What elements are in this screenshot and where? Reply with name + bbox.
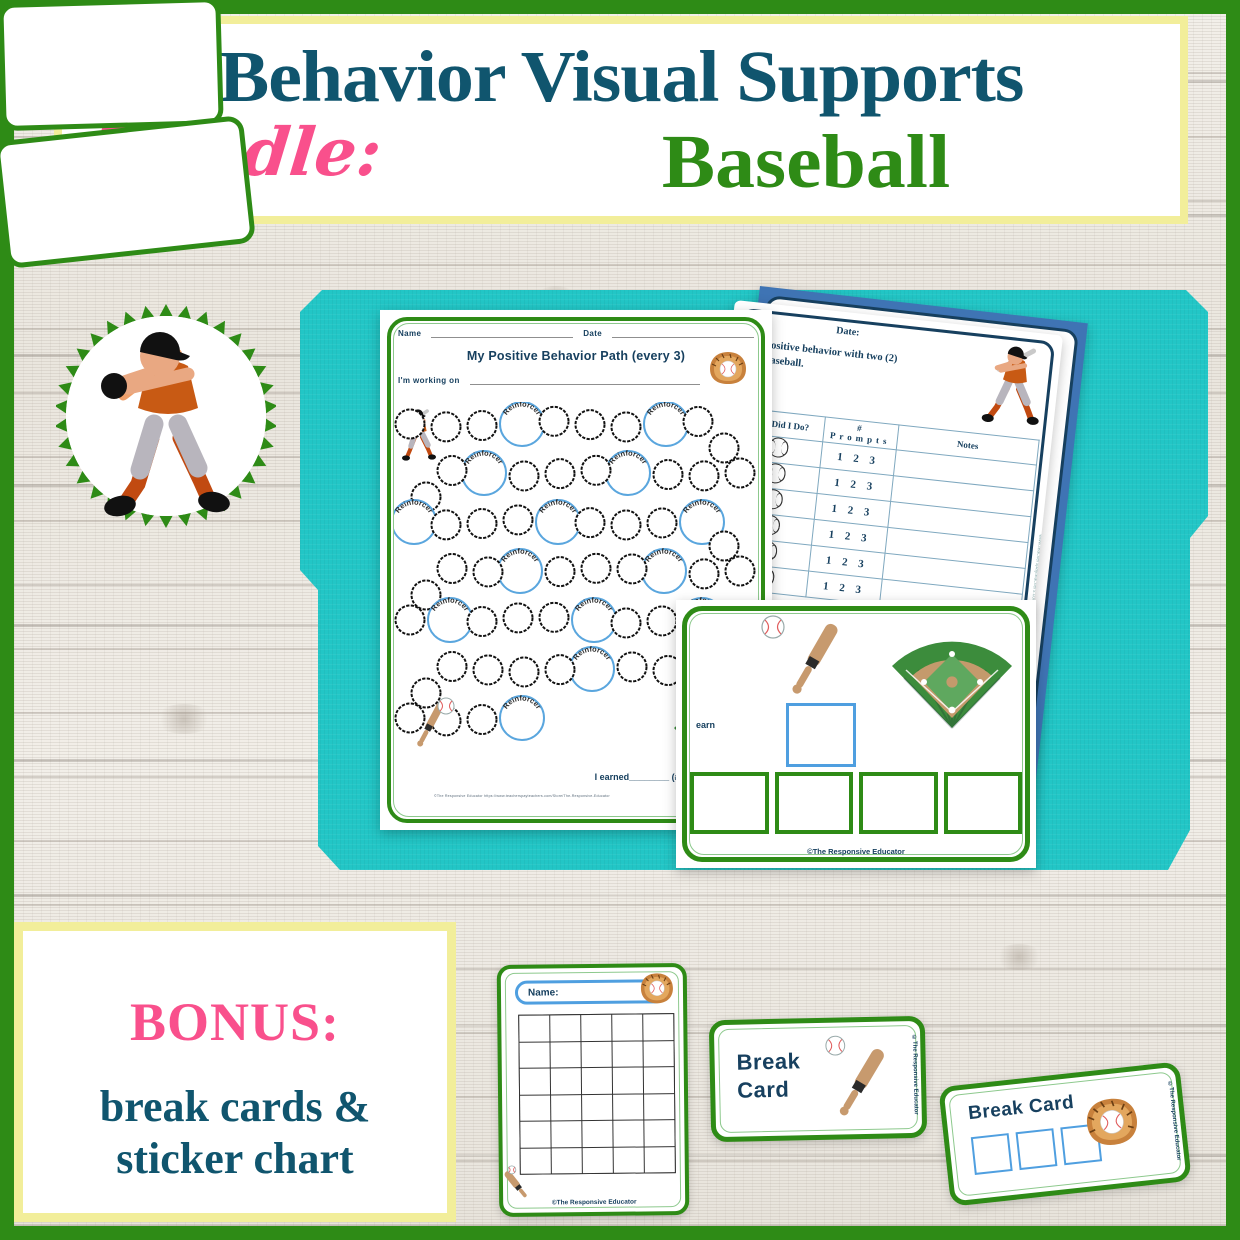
baseball-glove-icon bbox=[708, 350, 748, 386]
date-input-line[interactable] bbox=[612, 328, 754, 338]
sticker-cell[interactable] bbox=[613, 1094, 643, 1120]
sticker-cell[interactable] bbox=[644, 1120, 674, 1146]
sticker-cell[interactable] bbox=[550, 1042, 580, 1068]
break-card-label-line1: Break bbox=[736, 1047, 800, 1076]
sticker-cell[interactable] bbox=[614, 1147, 644, 1173]
sticker-cell[interactable] bbox=[519, 1015, 549, 1041]
sticker-cell[interactable] bbox=[613, 1120, 643, 1146]
break-card-stack-shadow bbox=[0, 0, 224, 131]
sticker-cell[interactable] bbox=[520, 1068, 550, 1094]
earn-label: earn bbox=[696, 720, 715, 730]
sticker-cell[interactable] bbox=[550, 1015, 580, 1041]
bonus-line-1: break cards & bbox=[23, 1081, 447, 1133]
token-slot-row[interactable] bbox=[690, 772, 1022, 834]
sticker-cell[interactable] bbox=[551, 1068, 581, 1094]
sticker-cell[interactable] bbox=[582, 1068, 612, 1094]
break-card-label-line2: Card bbox=[737, 1075, 801, 1104]
copyright-label: ©The Responsive Educator bbox=[911, 1035, 919, 1115]
copyright-line: ©The Responsive Educator https://www.tea… bbox=[434, 794, 610, 798]
baseball-batter-badge bbox=[56, 288, 276, 544]
sticker-cell[interactable] bbox=[643, 1041, 673, 1067]
sticker-cell[interactable] bbox=[582, 1094, 612, 1120]
sticker-cell[interactable] bbox=[520, 1121, 550, 1147]
working-on-input-line[interactable] bbox=[470, 375, 700, 385]
token-slot[interactable] bbox=[944, 772, 1023, 834]
baseball-field-icon bbox=[888, 620, 1016, 732]
sticker-cell[interactable] bbox=[583, 1147, 613, 1173]
baseball-bat-icon bbox=[772, 614, 858, 704]
sticker-cell[interactable] bbox=[552, 1148, 582, 1174]
sticker-chart[interactable]: Name: ©The Responsive Educator bbox=[497, 963, 690, 1217]
sticker-cell[interactable] bbox=[612, 1041, 642, 1067]
sticker-cell[interactable] bbox=[520, 1095, 550, 1121]
date-label: Date bbox=[583, 329, 602, 338]
subject-title: Baseball bbox=[476, 124, 1135, 200]
baseball-glove-icon bbox=[1081, 1093, 1142, 1151]
token-slot[interactable] bbox=[859, 772, 938, 834]
sticker-cell[interactable] bbox=[551, 1121, 581, 1147]
sticker-cell[interactable] bbox=[581, 1015, 611, 1041]
break-checkbox[interactable] bbox=[1016, 1128, 1058, 1170]
sheet-title: My Positive Behavior Path (every 3) bbox=[398, 349, 754, 363]
reward-box[interactable] bbox=[786, 703, 856, 767]
bat-and-ball-icon bbox=[402, 696, 460, 754]
name-input-line[interactable] bbox=[431, 328, 573, 338]
sticker-cell[interactable] bbox=[643, 1014, 673, 1040]
sticker-cell[interactable] bbox=[551, 1095, 581, 1121]
break-card-2-shadow bbox=[0, 115, 256, 269]
name-label: Name bbox=[398, 329, 421, 338]
copyright-label: ©The Responsive Educator bbox=[676, 847, 1036, 856]
break-checkbox[interactable] bbox=[971, 1133, 1013, 1175]
bonus-card: BONUS: break cards & sticker chart bbox=[14, 922, 456, 1222]
token-board-sheet[interactable]: earn ©The Responsive Educator bbox=[676, 600, 1036, 868]
name-label: Name: bbox=[528, 987, 559, 998]
baseball-glove-icon bbox=[639, 971, 675, 1005]
baseball-batter-icon bbox=[56, 288, 276, 544]
baseball-batter-icon bbox=[975, 337, 1050, 430]
sticker-cell[interactable] bbox=[581, 1041, 611, 1067]
sticker-cell[interactable] bbox=[612, 1014, 642, 1040]
bonus-line-2: sticker chart bbox=[23, 1133, 447, 1185]
bonus-heading: BONUS: bbox=[23, 991, 447, 1053]
sticker-grid[interactable] bbox=[518, 1013, 676, 1175]
baseball-bat-icon bbox=[824, 1039, 900, 1125]
break-card-1[interactable]: Break Card ©The Responsive Educator bbox=[709, 1016, 928, 1142]
sticker-cell[interactable] bbox=[582, 1121, 612, 1147]
sticker-cell[interactable] bbox=[644, 1067, 674, 1093]
sticker-cell[interactable] bbox=[645, 1147, 675, 1173]
sticker-cell[interactable] bbox=[644, 1094, 674, 1120]
token-slot[interactable] bbox=[775, 772, 854, 834]
working-on-label: I'm working on bbox=[398, 376, 460, 385]
sticker-cell[interactable] bbox=[613, 1067, 643, 1093]
sticker-cell[interactable] bbox=[519, 1042, 549, 1068]
token-slot[interactable] bbox=[690, 772, 769, 834]
